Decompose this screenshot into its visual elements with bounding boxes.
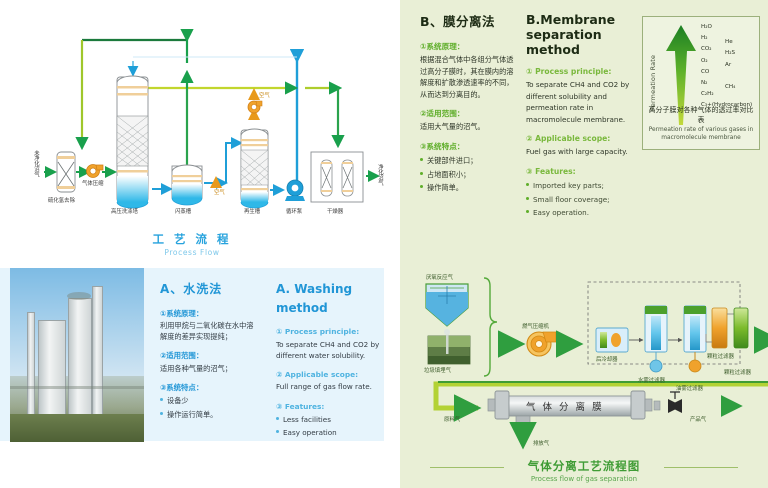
- gas-name: O₂: [701, 59, 708, 65]
- membrane-feature-cn: 占地面积小；: [420, 169, 516, 181]
- icon-landfill-gas: [428, 329, 470, 364]
- process-flow-title: 工 艺 流 程 Process Flow: [0, 231, 384, 257]
- label-flash-tank: 闪蒸槽: [175, 207, 191, 215]
- permeation-caption-en: Permeation rate of various gases in macr…: [646, 127, 756, 143]
- label-vent-gas: 排放气: [533, 439, 549, 447]
- left-column: 未净化沼气 硫化氢去除 气体压缩 高压洗涤塔 闪蒸槽 空气 空气 再生槽 循环泵…: [0, 0, 384, 488]
- washing-s1-body-cn: 利用甲烷与二氧化碳在水中溶解度的差异实现提纯；: [160, 320, 260, 342]
- gas-name: N₂: [701, 81, 707, 87]
- membrane-s2-body-en: Fuel gas with large capacity.: [526, 146, 638, 158]
- gas-separation-title-en: Process flow of gas separation: [400, 475, 768, 483]
- equip-after-cooler: [596, 328, 628, 352]
- washing-s2-title-cn: ②适用范围：: [160, 350, 260, 361]
- membrane-feature-cn: 操作简单。: [420, 182, 516, 194]
- equip-dryer: [311, 152, 363, 202]
- vessel-h2s-removal: [57, 152, 75, 192]
- gas-name: CO: [701, 70, 709, 76]
- membrane-s2-title-cn: ②适用范围：: [420, 108, 516, 120]
- label-regen-tank: 再生槽: [244, 207, 260, 215]
- label-product-gas: 产品气: [690, 415, 706, 423]
- membrane-feature-en: Imported key parts;: [526, 180, 638, 192]
- process-flow-title-cn: 工 艺 流 程: [0, 231, 384, 247]
- gas-separation-title: 气体分离工艺流程图 Process flow of gas separation: [400, 458, 768, 483]
- label-h2s-removal: 硫化氢去除: [48, 196, 75, 204]
- washing-s1-title-en: ① Process principle:: [276, 326, 388, 337]
- permeation-caption: 高分子膜对各种气体的透过率对比表 Permeation rate of vari…: [646, 105, 756, 143]
- washing-s3-title-en: ③ Features:: [276, 401, 388, 412]
- washing-heading-en: A. Washing method: [276, 280, 388, 317]
- label-wash-tower: 高压洗涤塔: [111, 207, 138, 215]
- equip-gas-compressor: [87, 165, 104, 178]
- equip-water-mist-filter: [645, 306, 667, 372]
- washing-feature-en: Less facilities: [276, 414, 388, 425]
- membrane-s1-body-cn: 根据混合气体中各组分气体透过高分子膜时，其在膜内的溶解度和扩散渗透速率的不同，从…: [420, 54, 516, 100]
- membrane-s3-title-en: ③ Features:: [526, 166, 638, 178]
- washing-feature-cn: 操作运行简单。: [160, 409, 260, 420]
- gas-name: He: [725, 40, 733, 46]
- label-anaerobic-gas: 厌氧反应气: [426, 273, 453, 281]
- label-raw-biogas: 未净化沼气: [32, 150, 40, 177]
- washing-feature-cn: 设备少: [160, 395, 260, 406]
- gas-row: H₂O: [701, 25, 757, 36]
- equip-particle-filter: [734, 308, 748, 348]
- label-particle-filter: 颗粒过滤器: [724, 368, 751, 376]
- washing-s3-title-cn: ③系统特点：: [160, 382, 260, 393]
- equip-carbon-filter: [706, 308, 727, 348]
- right-column: B、膜分离法 ①系统原理： 根据混合气体中各组分气体透过高分子膜时，其在膜内的溶…: [384, 0, 768, 488]
- membrane-s1-title-cn: ①系统原理：: [420, 41, 516, 53]
- equip-oil-mist-filter: [684, 306, 706, 372]
- label-carbon-filter: 颗粒过滤器: [707, 352, 734, 360]
- gas-name: H₂S: [725, 51, 735, 57]
- permeation-caption-cn: 高分子膜对各种气体的透过率对比表: [646, 105, 756, 125]
- permeation-gas-list: H₂O H₂ He CO₂ H₂S O₂ Ar CO N₂ CH₄ C₂H₂: [701, 25, 757, 115]
- label-landfill-gas: 垃圾填埋气: [424, 366, 451, 374]
- gas-name: H₂: [701, 36, 707, 42]
- label-gas-compression: 气体压缩: [82, 179, 104, 187]
- title-rule-left: [430, 467, 504, 468]
- gas-separation-title-cn: 气体分离工艺流程图: [400, 458, 768, 474]
- gas-name: CH₄: [725, 85, 735, 91]
- label-air-out: 空气: [259, 91, 270, 99]
- vessel-wash-tower: [117, 76, 148, 208]
- gas-row: O₂ Ar: [701, 59, 757, 70]
- gas-row: CO: [701, 70, 757, 81]
- icon-anaerobic-digester: [426, 284, 468, 326]
- membrane-heading-cn: B、膜分离法: [420, 12, 516, 32]
- label-air-in: 空气: [214, 188, 225, 196]
- label-feed-gas: 原料气: [444, 415, 460, 423]
- gas-name: C₂H₂: [701, 92, 714, 98]
- process-flow-title-en: Process Flow: [0, 248, 384, 257]
- membrane-feature-en: Small floor coverage;: [526, 194, 638, 206]
- photo-rail: [10, 386, 144, 389]
- photo-tower-b: [68, 298, 92, 432]
- washing-s1-body-en: To separate CH4 and CO2 by different wat…: [276, 339, 388, 361]
- gas-name: CO₂: [701, 47, 712, 53]
- membrane-s3-title-cn: ③系统特点：: [420, 141, 516, 153]
- equip-circulation-pump: [285, 180, 305, 201]
- gas-name: Ar: [725, 63, 731, 69]
- washing-en-column: A. Washing method ① Process principle: T…: [276, 280, 388, 438]
- permeation-rate-chart: Permeation Rate H₂O H₂ He CO₂ H₂S: [642, 16, 760, 150]
- label-oil-mist-filter: 油雾过滤器: [676, 384, 703, 392]
- plant-photo: [10, 268, 144, 442]
- photo-pipe-a: [92, 286, 103, 432]
- washing-s2-body-en: Full range of gas flow rate.: [276, 381, 388, 392]
- washing-s2-title-en: ② Applicable scope:: [276, 369, 388, 380]
- washing-feature-en: Easy operation: [276, 427, 388, 438]
- label-after-cooler: 后冷却器: [596, 355, 618, 363]
- gas-separation-diagram: 厌氧反应气 垃圾填埋气 燃气压缩机 后冷却器 水雾过滤器 油雾过滤器 颗粒过滤器…: [400, 256, 768, 456]
- washing-heading-cn: A、水洗法: [160, 280, 260, 299]
- membrane-cn-column: B、膜分离法 ①系统原理： 根据混合气体中各组分气体透过高分子膜时，其在膜内的溶…: [420, 12, 516, 194]
- label-circulation-pump: 循环泵: [286, 207, 302, 215]
- membrane-s2-title-en: ② Applicable scope:: [526, 133, 638, 145]
- vessel-regen-tank: [241, 129, 268, 208]
- membrane-s1-title-en: ① Process principle:: [526, 66, 638, 78]
- label-water-mist-filter: 水雾过滤器: [638, 376, 665, 384]
- equip-gas-compressor: [527, 332, 556, 356]
- label-membrane-module: 气 体 分 离 膜: [526, 399, 604, 413]
- washing-s2-body-cn: 适用各种气量的沼气；: [160, 363, 260, 374]
- label-gas-compressor: 燃气压缩机: [522, 322, 549, 330]
- membrane-feature-cn: 关键部件进口；: [420, 155, 516, 167]
- gas-name: H₂O: [701, 25, 712, 31]
- label-clean-biogas: 净化沼气: [376, 164, 384, 186]
- washing-s1-title-cn: ①系统原理：: [160, 308, 260, 319]
- membrane-en-column: B.Membrane separation method ① Process p…: [526, 12, 638, 219]
- label-dryer: 干燥器: [327, 207, 343, 215]
- photo-ground: [10, 414, 144, 442]
- membrane-feature-en: Easy operation.: [526, 207, 638, 219]
- equip-valve: [668, 392, 682, 413]
- membrane-s1-body-en: To separate CH4 and CO2 by different sol…: [526, 79, 638, 125]
- membrane-heading-en: B.Membrane separation method: [526, 12, 638, 57]
- washing-cn-column: A、水洗法 ①系统原理： 利用甲烷与二氧化碳在水中溶解度的差异实现提纯； ②适用…: [160, 280, 260, 420]
- vessel-flash-tank: [172, 165, 202, 205]
- photo-cap: [67, 292, 91, 300]
- title-rule-right: [664, 467, 738, 468]
- membrane-s2-body-cn: 适用大气量的沼气。: [420, 121, 516, 133]
- gas-row: CO₂ H₂S: [701, 47, 757, 58]
- process-flow-diagram: 未净化沼气 硫化氢去除 气体压缩 高压洗涤塔 闪蒸槽 空气 空气 再生槽 循环泵…: [0, 0, 384, 262]
